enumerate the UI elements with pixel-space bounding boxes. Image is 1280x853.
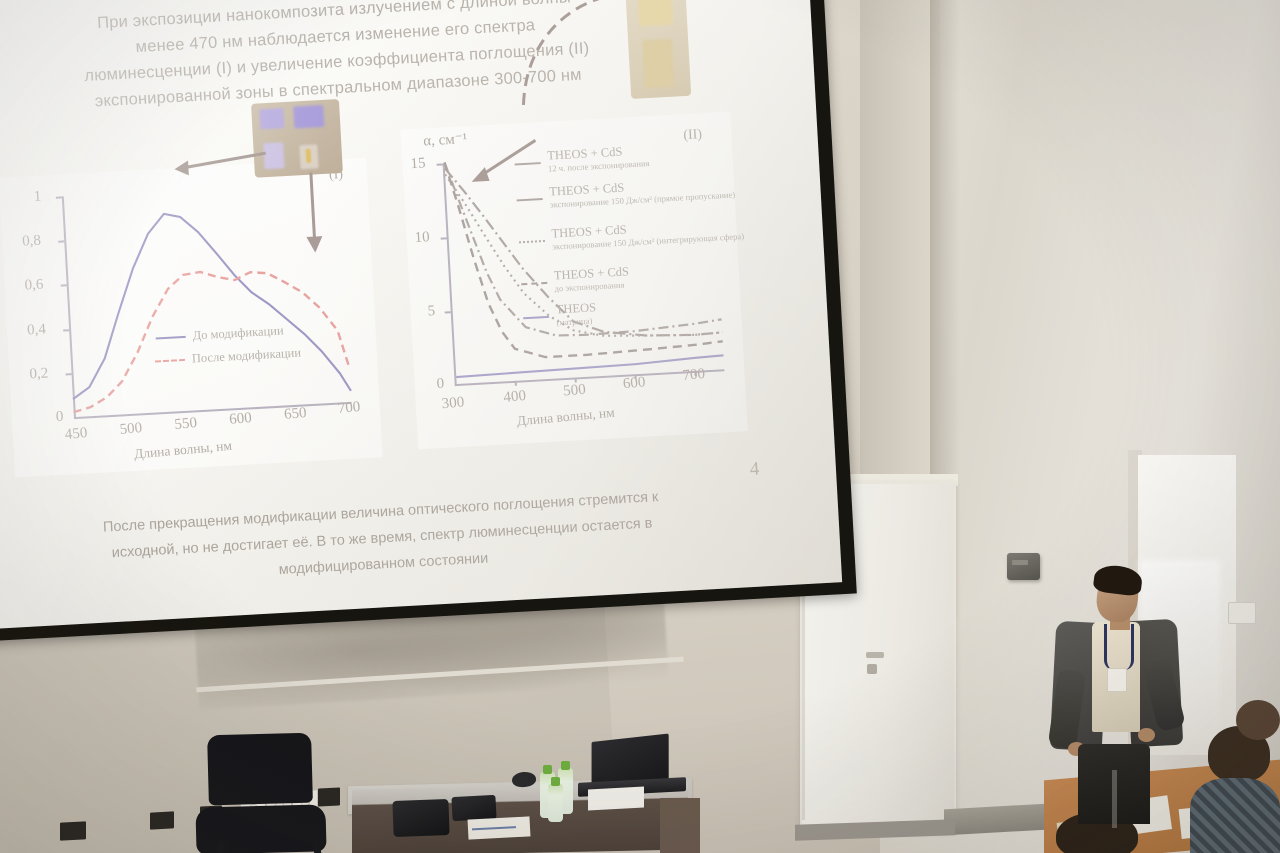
paper-sheet-on-table [588, 787, 644, 811]
presenter-leg-gap [1112, 770, 1117, 828]
series-theos-matrix [456, 355, 724, 377]
audience-head-far [1236, 700, 1280, 740]
wall-socket-dark-1[interactable] [60, 821, 86, 840]
arrow-to-peak-icon [161, 135, 274, 191]
water-bottle-3[interactable] [548, 784, 563, 822]
wall-speaker-icon [1007, 553, 1040, 580]
screen-surface: При экспозиции нанокомпозита излучением … [0, 0, 842, 629]
audience-shoulder-right [1190, 778, 1280, 853]
light-switch[interactable] [1228, 602, 1256, 624]
documents-on-table [468, 816, 531, 839]
presenter-lanyard [1104, 624, 1134, 670]
slide-number: 4 [749, 459, 760, 481]
chart-absorption: (II) α, см⁻¹ 15 10 5 0 300 [401, 112, 748, 450]
presenter-hand-right [1138, 728, 1155, 742]
legend-swatch-before [156, 335, 186, 339]
camera-lens-case[interactable] [451, 795, 496, 821]
chair-backrest[interactable] [207, 733, 313, 806]
legend-swatch-direct [517, 198, 543, 201]
legend-swatch-after [155, 358, 185, 362]
arrow-down-icon [293, 171, 338, 263]
arrow-curve-to-photo-icon [512, 0, 649, 107]
wall-socket-dark-2[interactable] [150, 811, 174, 829]
legend-swatch-12h [515, 162, 541, 165]
legend-sub-matrix: (матрица) [556, 314, 597, 329]
lecture-room-photo: При экспозиции нанокомпозита излучением … [0, 0, 1280, 853]
slide-footer: После прекращения модификации величина о… [0, 478, 769, 598]
projection-screen: При экспозиции нанокомпозита излучением … [0, 0, 857, 654]
presenter-badge [1107, 668, 1127, 692]
chair-seat[interactable] [195, 804, 326, 853]
wall-socket-dark-4[interactable] [318, 787, 340, 806]
slide-content: При экспозиции нанокомпозита излучением … [0, 0, 842, 629]
presenter-table-side [660, 798, 700, 853]
camera-body[interactable] [392, 799, 449, 837]
door-handle-icon[interactable] [866, 652, 884, 658]
legend-swatch-before-exposure [521, 282, 547, 285]
legend-swatch-sphere [519, 240, 545, 243]
legend-item-matrix: THEOS (матрица) [522, 301, 597, 331]
door-lock-icon[interactable] [867, 664, 877, 674]
legend-swatch-matrix [523, 316, 549, 319]
